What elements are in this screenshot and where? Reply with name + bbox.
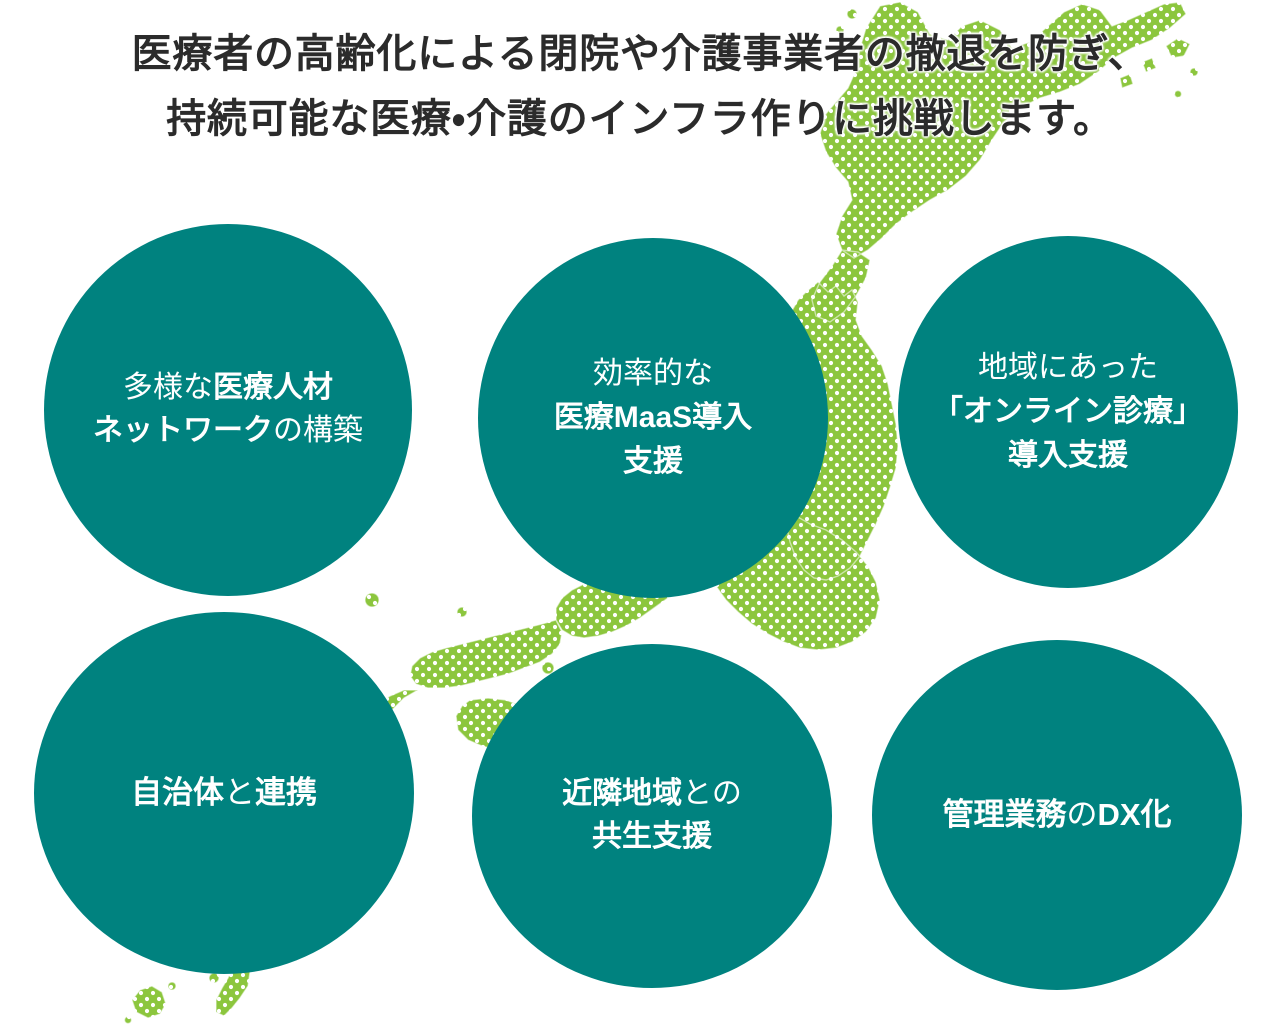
text-run: 自治体 xyxy=(131,775,224,810)
circle-text-line: 導入支援 xyxy=(1008,434,1128,478)
text-run: 多様な xyxy=(123,371,213,404)
circle-text-line: 地域にあった xyxy=(978,346,1158,390)
slide-canvas: 医療者の高齢化による閉院や介護事業者の撤退を防ぎ、 持続可能な医療・介護のインフ… xyxy=(0,0,1280,1035)
circle-medical-maas[interactable]: 効率的な医療MaaS導入支援 xyxy=(478,238,828,598)
circle-text-line: 共生支援 xyxy=(592,816,712,859)
text-run: 医療MaaS導入 xyxy=(554,401,752,434)
text-run: の構築 xyxy=(273,414,363,447)
text-run: 支援 xyxy=(623,445,683,478)
text-run: 連携 xyxy=(255,775,317,810)
text-run: 近隣地域 xyxy=(562,777,682,810)
text-run: 地域にあった xyxy=(978,351,1158,384)
circle-text-line: 近隣地域との xyxy=(562,773,742,816)
circle-neighbor-coexistence[interactable]: 近隣地域との共生支援 xyxy=(472,644,832,988)
circle-admin-dx[interactable]: 管理業務のDX化 xyxy=(872,640,1242,990)
circle-text-line: 支援 xyxy=(623,440,683,484)
text-run: DX化 xyxy=(1097,797,1171,832)
text-run: 「オンライン診療」 xyxy=(933,395,1203,428)
circle-text-line: 多様な医療人材 xyxy=(123,367,333,410)
text-run: と xyxy=(224,775,255,810)
text-run: 効率的な xyxy=(593,357,713,390)
text-run: 医療人材 xyxy=(213,371,333,404)
circle-online-care[interactable]: 地域にあった「オンライン診療」導入支援 xyxy=(898,236,1238,588)
text-run: ネットワーク xyxy=(93,414,273,447)
text-run: 共生支援 xyxy=(592,820,712,853)
text-run: との xyxy=(682,777,742,810)
text-run: 管理業務 xyxy=(942,797,1066,832)
text-run: 導入支援 xyxy=(1008,439,1128,472)
text-run: の xyxy=(1066,797,1097,832)
circle-text-line: 「オンライン診療」 xyxy=(933,390,1203,434)
circle-text-line: ネットワークの構築 xyxy=(93,410,363,453)
headline: 医療者の高齢化による閉院や介護事業者の撤退を防ぎ、 持続可能な医療・介護のインフ… xyxy=(0,22,1280,152)
circle-text-line: 医療MaaS導入 xyxy=(554,396,752,440)
circle-text-line: 管理業務のDX化 xyxy=(942,793,1171,837)
circle-multi-talent-network[interactable]: 多様な医療人材ネットワークの構築 xyxy=(44,224,412,596)
circle-text-line: 効率的な xyxy=(593,352,713,396)
headline-line-2: 持続可能な医療・介護のインフラ作りに挑戦します。 xyxy=(0,87,1280,152)
circle-text-line: 自治体と連携 xyxy=(131,771,317,815)
circle-municipality-partnership[interactable]: 自治体と連携 xyxy=(34,612,414,974)
headline-line-1: 医療者の高齢化による閉院や介護事業者の撤退を防ぎ、 xyxy=(0,22,1280,87)
